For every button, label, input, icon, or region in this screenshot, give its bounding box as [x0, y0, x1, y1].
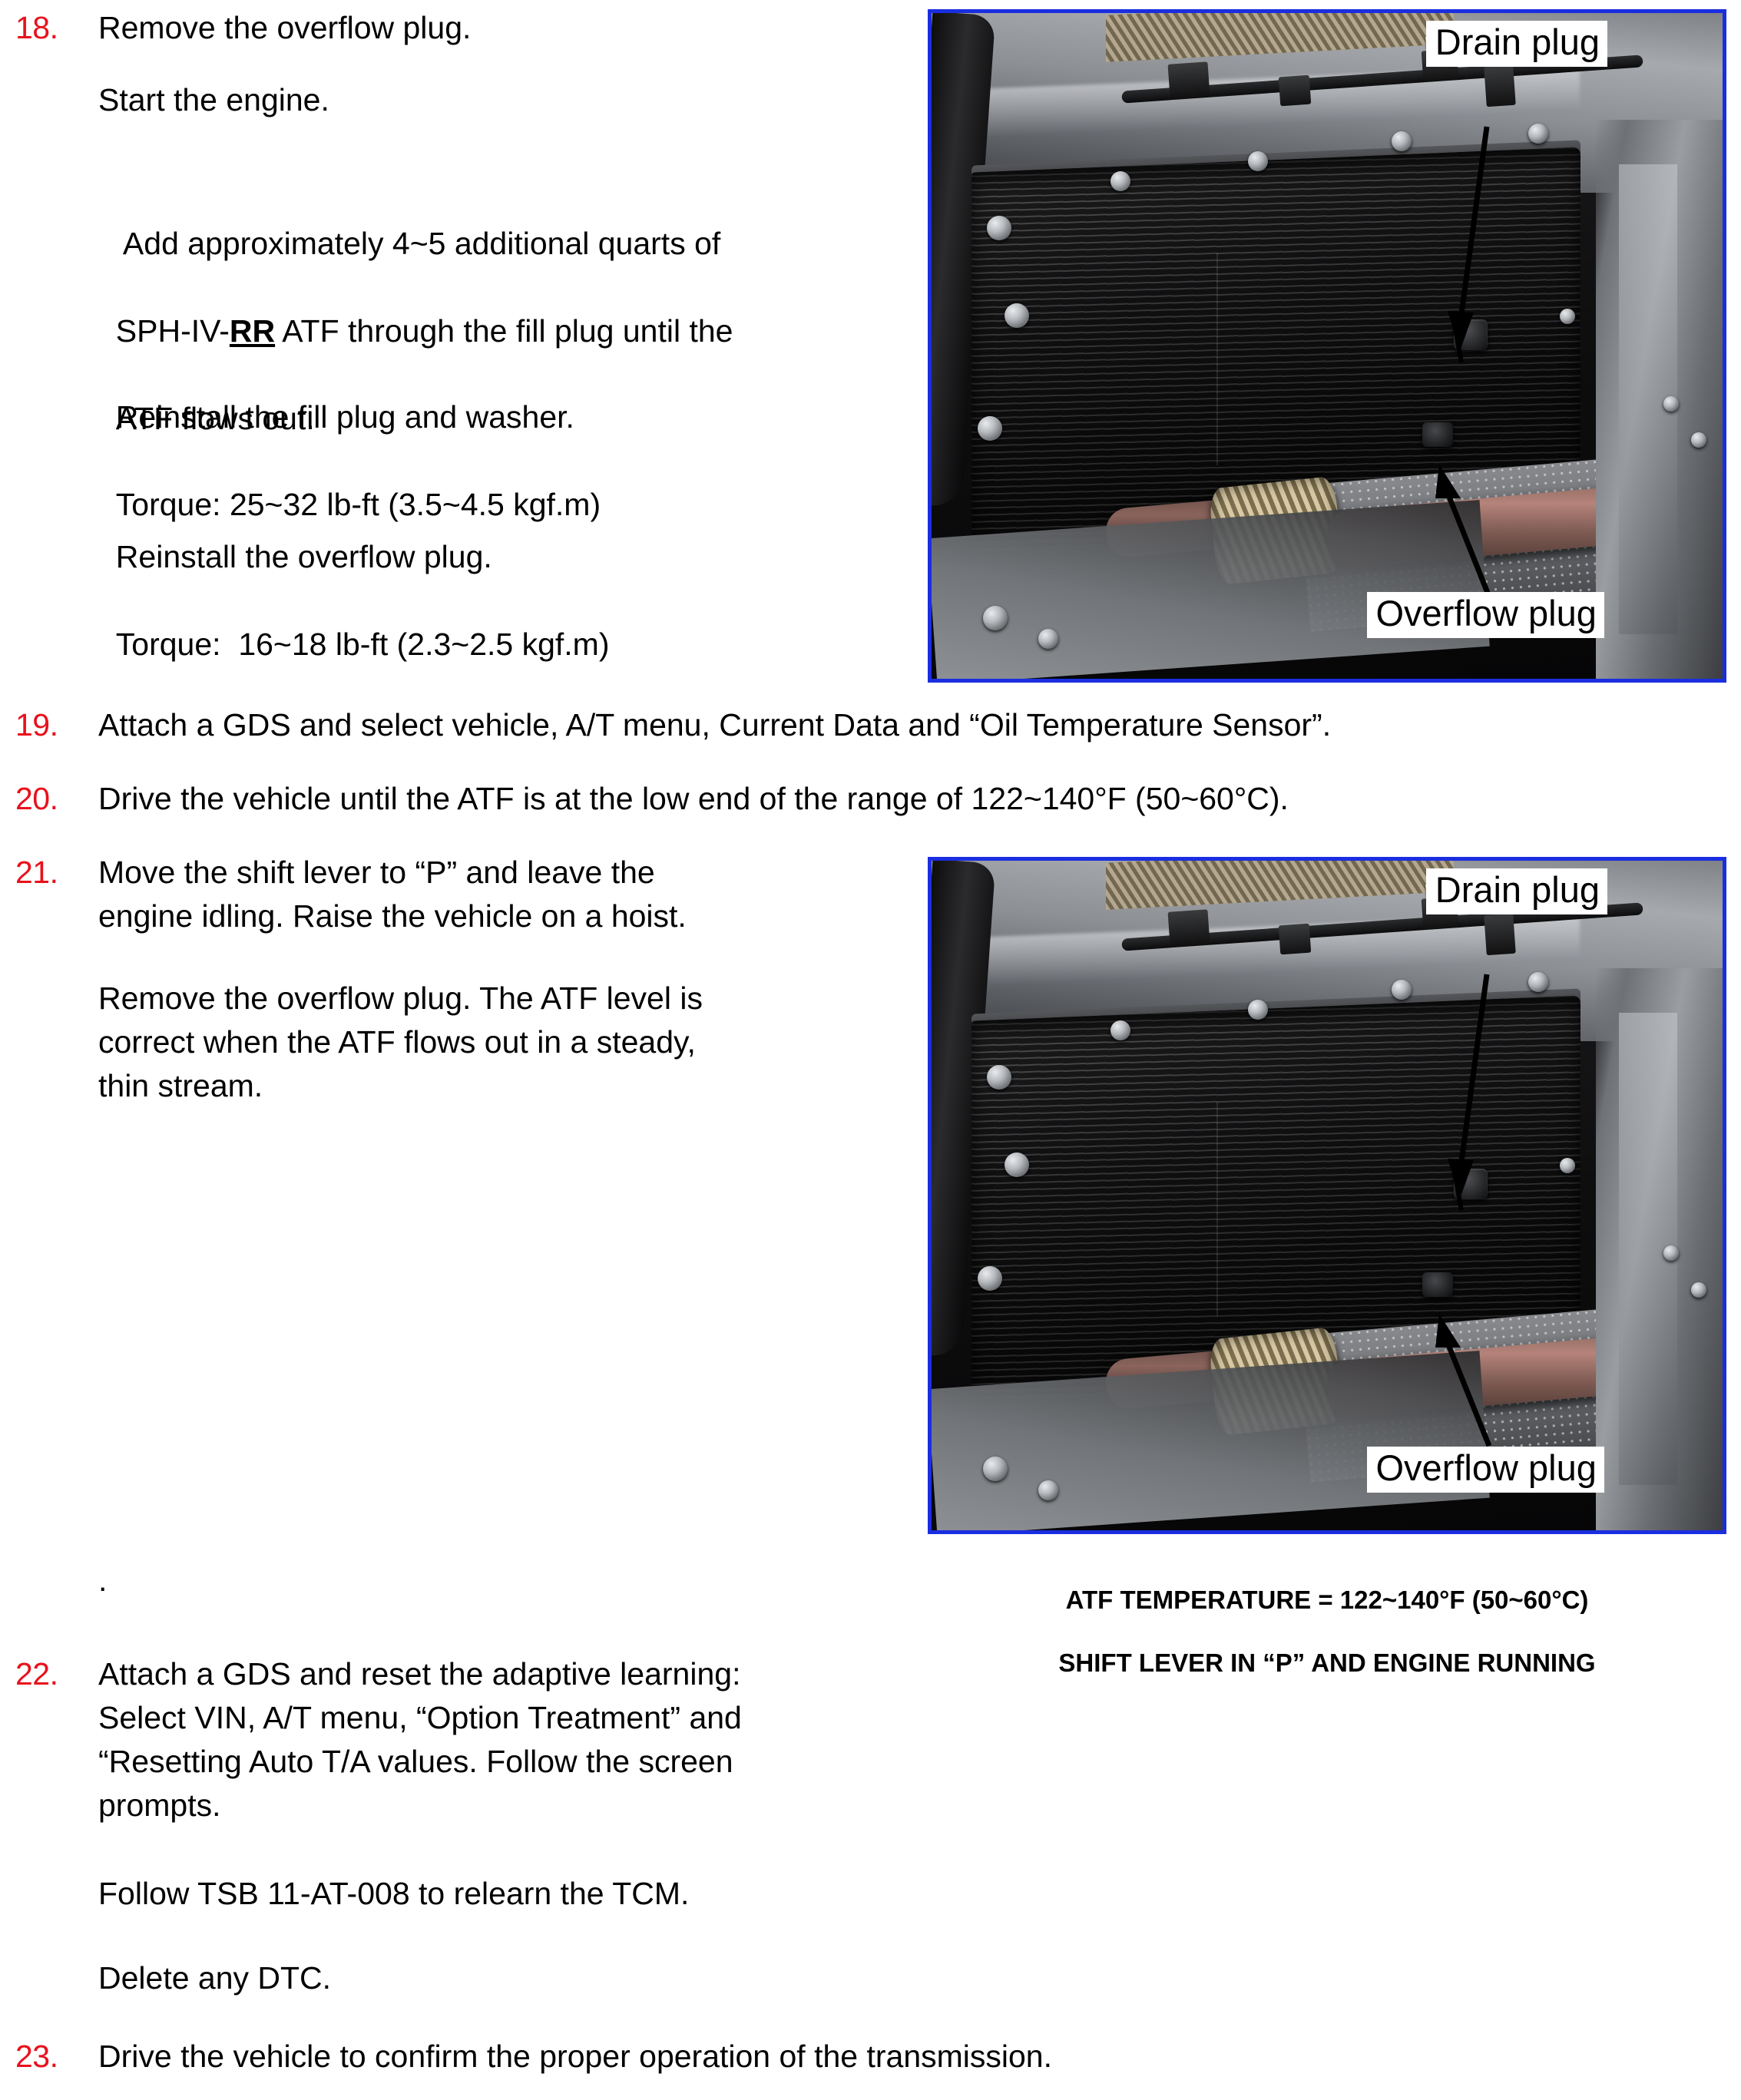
harness-connector-2-4 — [1484, 913, 1516, 955]
stray-period-mark: . — [98, 1559, 107, 1602]
harness-connector-2-2 — [1279, 923, 1312, 954]
pan-bolt-2 — [1005, 303, 1029, 328]
step-23-number: 23. — [15, 2035, 98, 2079]
caption-atf-temperature: ATF TEMPERATURE = 122~140°F (50~60°C) — [1066, 1586, 1589, 1614]
crossmember-bolt-1 — [983, 606, 1008, 630]
oil-pan-seam-1 — [1216, 253, 1218, 466]
callout-overflow-plug-2: Overflow plug — [1367, 1447, 1604, 1493]
step-22: 22. Attach a GDS and reset the adaptive … — [15, 1652, 742, 1827]
harness-connector-2 — [1279, 75, 1312, 107]
fill-plug-reinstall-text: Reinstall the fill plug and washer. — [116, 399, 574, 435]
step-20-number: 20. — [15, 777, 98, 821]
overflow-plug-reinstall-text: Reinstall the overflow plug. — [116, 539, 492, 574]
photo-transmission-underside-bottom: Drain plug Overflow plug — [932, 861, 1723, 1530]
crossmember-bolt-2 — [1038, 629, 1058, 649]
harness-connector-4 — [1484, 65, 1516, 107]
pan-bolt-3 — [978, 416, 1002, 441]
step-22-paragraph-1: Attach a GDS and reset the adaptive lear… — [98, 1652, 742, 1827]
overflow-plug — [1422, 422, 1453, 447]
step-21-paragraph-2: Remove the overflow plug. The ATF level … — [98, 977, 703, 1108]
pan-bolt-2-3 — [978, 1266, 1002, 1291]
step-18-line-1: Remove the overflow plug. — [98, 6, 471, 50]
step-21-paragraph-1: Move the shift lever to “P” and leave th… — [98, 851, 687, 938]
step-23-text: Drive the vehicle to confirm the proper … — [98, 2035, 1052, 2079]
overflow-plug-torque-value: Torque: 16~18 lb-ft (2.3~2.5 kgf.m) — [116, 627, 610, 662]
pan-bolt-2-2 — [1005, 1153, 1029, 1177]
subframe-bolt-1 — [1663, 396, 1679, 412]
right-subframe-rail-2 — [1596, 968, 1723, 1530]
step-18-overflow-plug-torque: Reinstall the overflow plug. Torque: 16~… — [98, 491, 609, 666]
oil-pan-seam-2 — [1216, 1102, 1218, 1316]
caption-shift-lever-condition: SHIFT LEVER IN “P” AND ENGINE RUNNING — [1058, 1649, 1595, 1677]
crossmember-bolt-2-2 — [1038, 1480, 1058, 1500]
step-21: 21. Move the shift lever to “P” and leav… — [15, 851, 687, 938]
overflow-plug-2 — [1422, 1272, 1453, 1297]
pan-bolt-2-7 — [1528, 972, 1548, 992]
step-20: 20. Drive the vehicle until the ATF is a… — [15, 777, 1289, 821]
step-22-paragraph-2: Follow TSB 11-AT-008 to relearn the TCM. — [98, 1872, 689, 1916]
atf-spec-rr: RR — [230, 313, 275, 349]
add-atf-line-a: Add approximately 4~5 additional quarts … — [116, 226, 721, 261]
step-20-text: Drive the vehicle until the ATF is at th… — [98, 777, 1289, 821]
harness-connector-2-1 — [1168, 910, 1210, 947]
step-21-number: 21. — [15, 851, 98, 895]
pan-bolt-2-1 — [987, 1065, 1011, 1090]
step-23: 23. Drive the vehicle to confirm the pro… — [15, 2035, 1052, 2079]
add-atf-line-b-post: ATF through the fill plug until the — [275, 313, 733, 349]
drain-plug-2 — [1454, 1169, 1488, 1199]
pan-bolt-4 — [1110, 171, 1130, 191]
right-subframe-rail — [1596, 120, 1723, 679]
callout-overflow-plug: Overflow plug — [1367, 592, 1604, 638]
callout-drain-plug: Drain plug — [1426, 21, 1607, 67]
photo-transmission-underside-top: Drain plug Overflow plug — [932, 13, 1723, 679]
step-18-line-2: Start the engine. — [98, 78, 329, 122]
pan-bolt-2-8 — [1560, 1158, 1575, 1173]
figure-transmission-pan-bottom: Drain plug Overflow plug — [928, 857, 1726, 1534]
step-22-paragraph-3: Delete any DTC. — [98, 1956, 331, 2000]
step-22-number: 22. — [15, 1652, 98, 1696]
pan-bolt-8 — [1560, 309, 1575, 324]
step-18: 18. Remove the overflow plug. — [15, 6, 471, 50]
crossmember-bolt-2-1 — [983, 1457, 1008, 1481]
figure-bottom-caption: ATF TEMPERATURE = 122~140°F (50~60°C) SH… — [928, 1553, 1726, 1678]
figure-transmission-pan-top: Drain plug Overflow plug — [928, 9, 1726, 683]
drain-plug — [1454, 319, 1488, 350]
harness-connector-1 — [1168, 61, 1210, 98]
pan-bolt-7 — [1528, 124, 1548, 144]
add-atf-line-b-pre: SPH-IV- — [116, 313, 230, 349]
subframe-bolt-2 — [1691, 432, 1706, 448]
callout-drain-plug-2: Drain plug — [1426, 868, 1607, 914]
step-19-number: 19. — [15, 703, 98, 747]
step-19: 19. Attach a GDS and select vehicle, A/T… — [15, 703, 1331, 747]
step-19-text: Attach a GDS and select vehicle, A/T men… — [98, 703, 1331, 747]
step-18-number: 18. — [15, 6, 98, 50]
pan-bolt-2-4 — [1110, 1020, 1130, 1040]
